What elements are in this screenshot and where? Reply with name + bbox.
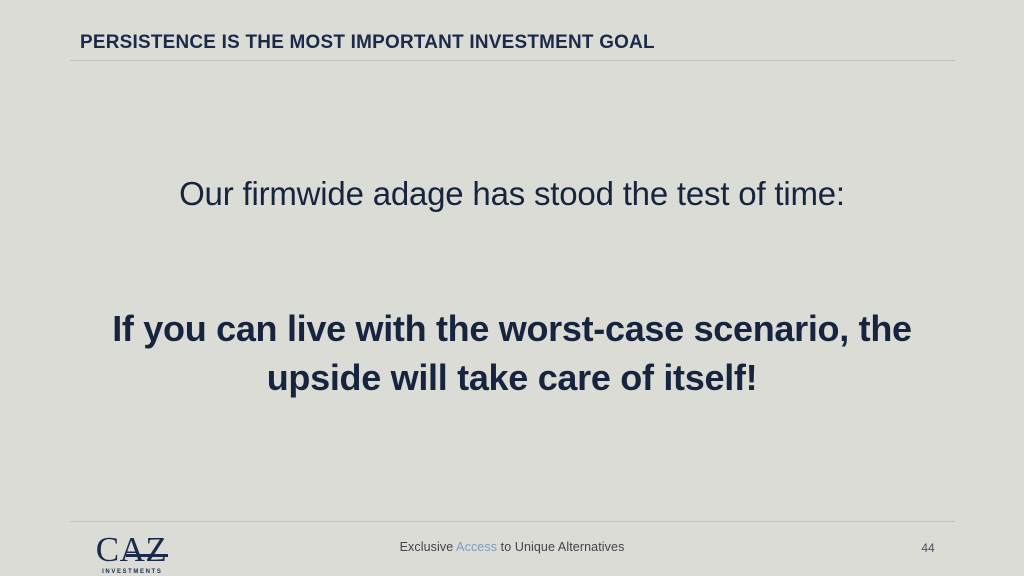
tagline-before: Exclusive xyxy=(400,540,457,554)
slide-footer: CAZ INVESTMENTS Exclusive Access to Uniq… xyxy=(0,517,1024,576)
page-title: PERSISTENCE IS THE MOST IMPORTANT INVEST… xyxy=(80,31,655,54)
intro-text: Our firmwide adage has stood the test of… xyxy=(62,173,962,214)
header-divider xyxy=(70,60,955,61)
statement-text: If you can live with the worst-case scen… xyxy=(62,304,962,402)
slide-header: PERSISTENCE IS THE MOST IMPORTANT INVEST… xyxy=(0,0,1024,62)
footer-tagline: Exclusive Access to Unique Alternatives xyxy=(0,540,1024,554)
slide-body: Our firmwide adage has stood the test of… xyxy=(0,62,1024,517)
tagline-accent-word: Access xyxy=(456,540,497,554)
brand-crossbar-icon xyxy=(126,554,168,557)
tagline-after: to Unique Alternatives xyxy=(497,540,624,554)
presentation-slide: PERSISTENCE IS THE MOST IMPORTANT INVEST… xyxy=(0,0,1024,576)
brand-sublabel: INVESTMENTS xyxy=(79,569,184,575)
footer-divider xyxy=(70,521,955,522)
page-number: 44 xyxy=(898,541,958,555)
